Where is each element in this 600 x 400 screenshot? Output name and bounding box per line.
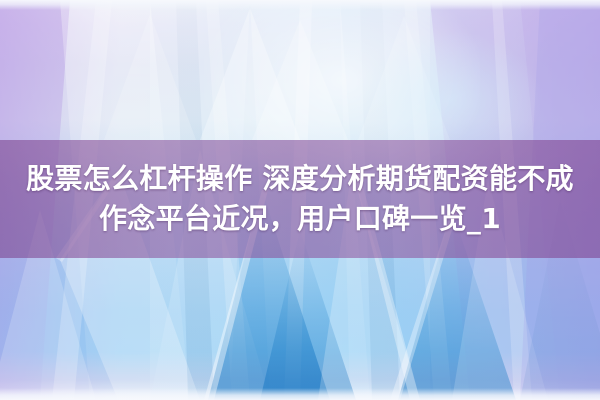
cover-title: 股票怎么杠杆操作 深度分析期货配资能不成作念平台近况，用户口碑一览_1	[12, 159, 588, 239]
article-cover-image: 股票怎么杠杆操作 深度分析期货配资能不成作念平台近况，用户口碑一览_1	[0, 0, 600, 400]
title-overlay-band: 股票怎么杠杆操作 深度分析期货配资能不成作念平台近况，用户口碑一览_1	[0, 140, 600, 258]
